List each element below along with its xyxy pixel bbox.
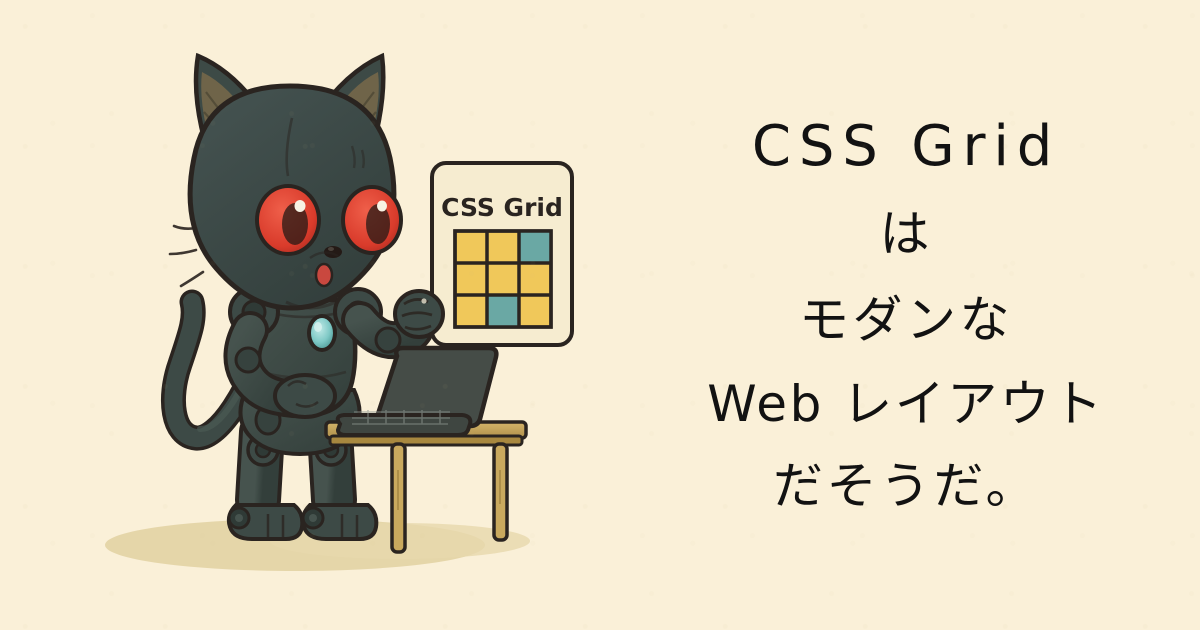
poster-grid	[455, 231, 551, 327]
css-grid-poster: CSS Grid	[432, 163, 572, 345]
caption-line-4: Web レイアウト	[707, 379, 1104, 429]
caption-text-block: CSS Grid は モダンな Web レイアウト だそうだ。	[612, 0, 1200, 630]
caption-line-3: モダンな	[799, 295, 1013, 345]
illustration-card: CSS Grid	[0, 0, 1200, 630]
laptop	[338, 348, 497, 435]
caption-line-1: CSS Grid	[752, 119, 1060, 175]
robot-cat-head	[170, 56, 403, 308]
poster-title: CSS Grid	[441, 193, 563, 222]
robot-cat-illustration: CSS Grid	[0, 0, 620, 630]
cat-mouth	[316, 264, 332, 286]
caption-line-2: は	[880, 209, 933, 259]
caption-line-5: だそうだ。	[773, 461, 1039, 511]
robot-fist	[395, 291, 443, 337]
